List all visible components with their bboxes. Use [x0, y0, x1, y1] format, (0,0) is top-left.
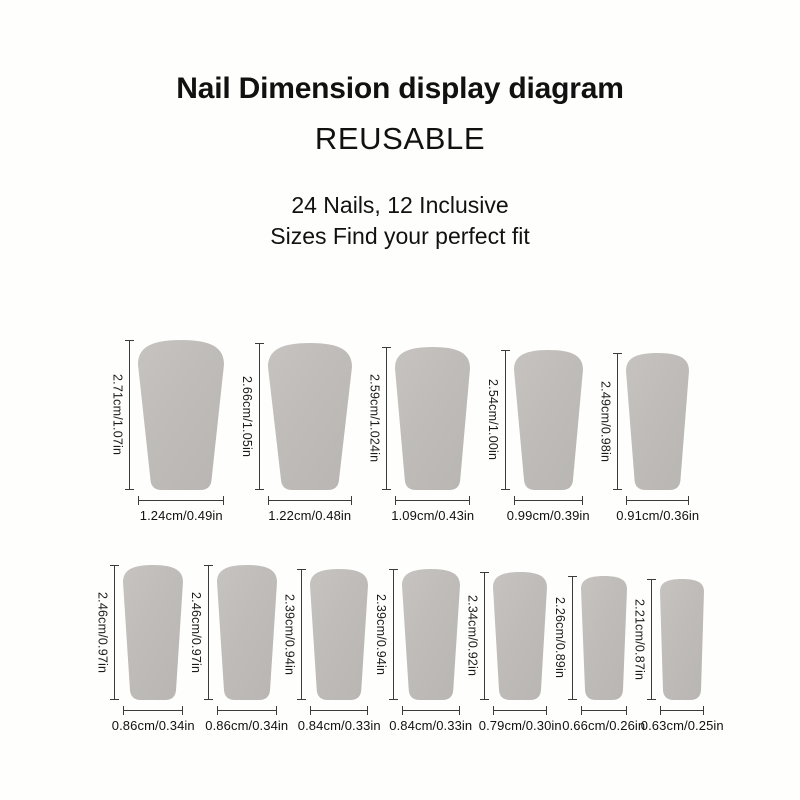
nail-graphic	[217, 565, 277, 700]
height-dimension: 2.21cm/0.87in	[633, 579, 657, 700]
nail-graphic	[581, 576, 627, 700]
width-dimension-label: 0.84cm/0.33in	[298, 718, 381, 733]
width-dimension-cap-right	[469, 496, 470, 505]
height-dimension-label: 2.46cm/0.97in	[189, 565, 204, 700]
height-dimension-cap-top	[204, 565, 213, 566]
nail-size-item: 2.46cm/0.97in 0.86cm/0.34in	[96, 565, 184, 733]
nail-shape	[514, 350, 583, 490]
width-dimension-line	[514, 500, 583, 501]
width-dimension-cap-right	[626, 706, 627, 715]
height-dimension-cap-top	[110, 565, 119, 566]
width-dimension-cap-left	[217, 706, 218, 715]
width-dimension-line	[138, 500, 224, 501]
width-dimension-label: 0.91cm/0.36in	[616, 508, 699, 523]
diagram-header: Nail Dimension display diagram REUSABLE …	[0, 0, 800, 251]
height-dimension-label: 2.71cm/1.07in	[111, 340, 126, 490]
width-dimension-cap-right	[367, 706, 368, 715]
height-dimension-label: 2.59cm/1.024in	[368, 347, 383, 490]
height-dimension: 2.34cm/0.92in	[466, 572, 490, 700]
height-dimension-cap-top	[255, 343, 264, 344]
nail-graphic	[402, 569, 460, 700]
width-dimension	[402, 706, 460, 715]
height-dimension-label: 2.46cm/0.97in	[96, 565, 111, 700]
width-dimension	[626, 496, 689, 505]
nail-shape	[395, 347, 470, 490]
height-dimension-cap-bottom	[255, 489, 264, 490]
width-dimension-cap-right	[182, 706, 183, 715]
height-dimension-cap-bottom	[501, 489, 510, 490]
nail-size-item: 2.59cm/1.024in 1.09cm/0.43in	[368, 347, 471, 523]
nail-shape	[217, 565, 277, 700]
height-dimension: 2.39cm/0.94in	[283, 569, 307, 700]
page-subtitle: REUSABLE	[0, 121, 800, 157]
width-dimension-label: 0.99cm/0.39in	[507, 508, 590, 523]
width-dimension-label: 1.22cm/0.48in	[268, 508, 351, 523]
nail-size-item: 2.21cm/0.87in 0.63cm/0.25in	[633, 579, 705, 733]
width-dimension-cap-left	[395, 496, 396, 505]
nail-graphic	[660, 579, 704, 700]
width-dimension-label: 0.79cm/0.30in	[479, 718, 562, 733]
width-dimension-label: 0.84cm/0.33in	[389, 718, 472, 733]
height-dimension-cap-bottom	[647, 699, 656, 700]
width-dimension-cap-right	[688, 496, 689, 505]
height-dimension-cap-top	[382, 347, 391, 348]
height-dimension-cap-top	[613, 353, 622, 354]
width-dimension-cap-left	[493, 706, 494, 715]
nail-graphic	[493, 572, 547, 700]
width-dimension	[660, 706, 704, 715]
height-dimension: 2.59cm/1.024in	[368, 347, 392, 490]
nail-graphic	[268, 343, 352, 490]
nail-size-item: 2.46cm/0.97in 0.86cm/0.34in	[189, 565, 277, 733]
height-dimension-label: 2.49cm/0.98in	[599, 353, 614, 490]
tagline-line-2: Sizes Find your perfect fit	[0, 221, 800, 252]
height-dimension-line	[255, 343, 264, 490]
width-dimension-line	[626, 500, 689, 501]
width-dimension-cap-right	[223, 496, 224, 505]
height-dimension-cap-bottom	[125, 489, 134, 490]
height-dimension-cap-bottom	[110, 699, 119, 700]
height-dimension-line	[125, 340, 134, 490]
height-dimension-cap-bottom	[480, 699, 489, 700]
width-dimension-label: 1.24cm/0.49in	[140, 508, 223, 523]
height-dimension-label: 2.34cm/0.92in	[466, 572, 481, 700]
nail-size-item: 2.39cm/0.94in 0.84cm/0.33in	[283, 569, 369, 733]
width-dimension-line	[660, 710, 704, 711]
width-dimension-cap-left	[581, 706, 582, 715]
height-dimension-cap-bottom	[613, 489, 622, 490]
height-dimension-label: 2.26cm/0.89in	[553, 576, 568, 700]
height-dimension: 2.46cm/0.97in	[189, 565, 213, 700]
nail-graphic	[310, 569, 368, 700]
width-dimension	[138, 496, 224, 505]
tagline: 24 Nails, 12 Inclusive Sizes Find your p…	[0, 190, 800, 251]
width-dimension-line	[217, 710, 277, 711]
width-dimension-cap-right	[703, 706, 704, 715]
width-dimension-line	[268, 500, 352, 501]
height-dimension-cap-top	[297, 569, 306, 570]
height-dimension-cap-top	[647, 579, 656, 580]
height-dimension-cap-bottom	[389, 699, 398, 700]
nail-row-2: 2.46cm/0.97in 0.86cm/0.34in2.46cm/0.97in…	[0, 565, 800, 733]
nail-shape	[626, 353, 689, 490]
width-dimension-line	[493, 710, 547, 711]
width-dimension-cap-left	[514, 496, 515, 505]
height-dimension: 2.71cm/1.07in	[111, 340, 135, 490]
nail-graphic	[123, 565, 183, 700]
nail-shape	[660, 579, 704, 700]
height-dimension-line	[204, 565, 213, 700]
nail-size-item: 2.49cm/0.98in 0.91cm/0.36in	[599, 353, 690, 523]
nail-shape	[123, 565, 183, 700]
width-dimension-line	[123, 710, 183, 711]
width-dimension-cap-left	[138, 496, 139, 505]
nail-size-item: 2.26cm/0.89in 0.66cm/0.26in	[553, 576, 627, 733]
height-dimension: 2.26cm/0.89in	[553, 576, 577, 700]
height-dimension-cap-top	[125, 340, 134, 341]
width-dimension-cap-right	[582, 496, 583, 505]
height-dimension-label: 2.66cm/1.05in	[240, 343, 255, 490]
width-dimension-cap-left	[123, 706, 124, 715]
height-dimension-cap-bottom	[297, 699, 306, 700]
width-dimension-line	[581, 710, 627, 711]
height-dimension-cap-bottom	[382, 489, 391, 490]
height-dimension: 2.66cm/1.05in	[240, 343, 264, 490]
page-title: Nail Dimension display diagram	[0, 72, 800, 107]
height-dimension-cap-top	[501, 350, 510, 351]
width-dimension-line	[310, 710, 368, 711]
height-dimension-line	[480, 572, 489, 700]
width-dimension	[493, 706, 547, 715]
width-dimension	[123, 706, 183, 715]
width-dimension	[268, 496, 352, 505]
nail-graphic	[138, 340, 224, 490]
height-dimension-line	[382, 347, 391, 490]
width-dimension-cap-right	[276, 706, 277, 715]
width-dimension-line	[402, 710, 460, 711]
width-dimension-cap-left	[310, 706, 311, 715]
height-dimension-label: 2.54cm/1.00in	[486, 350, 501, 490]
height-dimension-line	[501, 350, 510, 490]
height-dimension-line	[647, 579, 656, 700]
width-dimension	[514, 496, 583, 505]
height-dimension-cap-top	[389, 569, 398, 570]
nail-size-item: 2.34cm/0.92in 0.79cm/0.30in	[466, 572, 548, 733]
nail-shape	[138, 340, 224, 490]
nail-graphic	[626, 353, 689, 490]
height-dimension: 2.46cm/0.97in	[96, 565, 120, 700]
nail-size-item: 2.71cm/1.07in 1.24cm/0.49in	[111, 340, 225, 523]
width-dimension-label: 0.63cm/0.25in	[641, 718, 724, 733]
nail-row-1: 2.71cm/1.07in 1.24cm/0.49in2.66cm/1.05in…	[0, 340, 800, 523]
nail-shape	[402, 569, 460, 700]
nail-shape	[268, 343, 352, 490]
height-dimension-cap-top	[480, 572, 489, 573]
nail-dimension-diagram: Nail Dimension display diagram REUSABLE …	[0, 0, 800, 800]
height-dimension-cap-bottom	[568, 699, 577, 700]
height-dimension-line	[110, 565, 119, 700]
width-dimension-cap-right	[459, 706, 460, 715]
width-dimension-label: 1.09cm/0.43in	[391, 508, 474, 523]
nail-size-item: 2.66cm/1.05in 1.22cm/0.48in	[240, 343, 352, 523]
height-dimension-label: 2.39cm/0.94in	[374, 569, 389, 700]
height-dimension-line	[389, 569, 398, 700]
nail-graphic	[395, 347, 470, 490]
width-dimension	[217, 706, 277, 715]
tagline-line-1: 24 Nails, 12 Inclusive	[0, 190, 800, 221]
width-dimension-cap-right	[351, 496, 352, 505]
nail-shape	[310, 569, 368, 700]
height-dimension: 2.49cm/0.98in	[599, 353, 623, 490]
height-dimension: 2.39cm/0.94in	[374, 569, 398, 700]
width-dimension-cap-left	[268, 496, 269, 505]
nail-shape	[581, 576, 627, 700]
height-dimension-label: 2.39cm/0.94in	[283, 569, 298, 700]
width-dimension-cap-left	[626, 496, 627, 505]
width-dimension-line	[395, 500, 470, 501]
width-dimension-label: 0.86cm/0.34in	[112, 718, 195, 733]
width-dimension	[310, 706, 368, 715]
height-dimension-cap-bottom	[204, 699, 213, 700]
nail-size-item: 2.54cm/1.00in 0.99cm/0.39in	[486, 350, 583, 523]
nail-shape	[493, 572, 547, 700]
width-dimension-cap-right	[546, 706, 547, 715]
height-dimension-line	[297, 569, 306, 700]
width-dimension	[395, 496, 470, 505]
height-dimension-line	[613, 353, 622, 490]
nail-size-item: 2.39cm/0.94in 0.84cm/0.33in	[374, 569, 460, 733]
height-dimension-cap-top	[568, 576, 577, 577]
width-dimension-cap-left	[660, 706, 661, 715]
height-dimension-line	[568, 576, 577, 700]
height-dimension-label: 2.21cm/0.87in	[633, 579, 648, 700]
width-dimension-cap-left	[402, 706, 403, 715]
height-dimension: 2.54cm/1.00in	[486, 350, 510, 490]
width-dimension	[581, 706, 627, 715]
nail-graphic	[514, 350, 583, 490]
width-dimension-label: 0.86cm/0.34in	[205, 718, 288, 733]
